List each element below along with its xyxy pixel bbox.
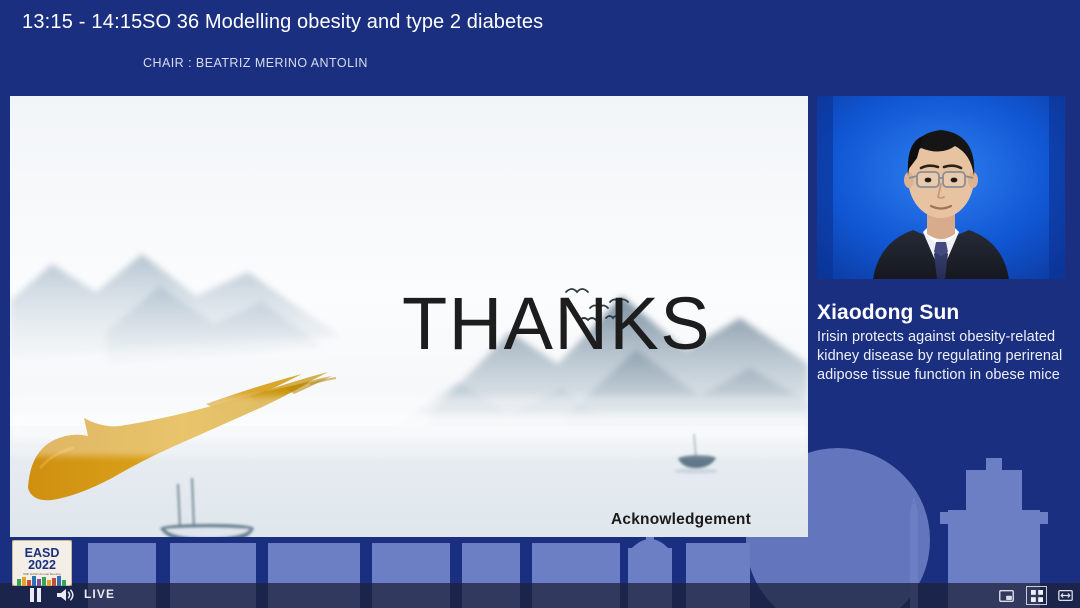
- session-chair: CHAIR : BEATRIZ MERINO ANTOLIN: [143, 56, 368, 70]
- slide-acknowledgement-label: Acknowledgement: [611, 511, 751, 529]
- session-header: 13:15 - 14:15 SO 36 Modelling obesity an…: [0, 0, 1080, 88]
- easd-logo-mark: EASD 2022 58th EASD Annual Meeting: [12, 540, 72, 586]
- easd-logo: EASD 2022 58th EASD Annual Meeting: [12, 540, 72, 586]
- expand-width-icon[interactable]: [1055, 586, 1076, 605]
- page-title: SO 36 Modelling obesity and type 2 diabe…: [142, 11, 543, 34]
- video-player-controls: LIVE: [0, 583, 1080, 608]
- layout-grid-icon[interactable]: [1026, 586, 1047, 605]
- avatar[interactable]: [817, 96, 1065, 279]
- picture-in-picture-icon[interactable]: [996, 586, 1017, 605]
- live-badge: LIVE: [84, 587, 115, 601]
- slide-heading: THANKS: [402, 287, 711, 361]
- pause-icon[interactable]: [30, 588, 43, 602]
- speaker-panel: Xiaodong Sun Irisin protects against obe…: [817, 96, 1065, 386]
- session-time: 13:15 - 14:15: [22, 11, 142, 34]
- speaker-portrait-image: [817, 96, 1065, 279]
- volume-icon[interactable]: [55, 587, 75, 603]
- presentation-slide[interactable]: THANKS Acknowledgement: [10, 96, 808, 537]
- speaker-name: Xiaodong Sun: [817, 301, 1065, 325]
- easd-logo-line2: 2022: [28, 558, 56, 572]
- speaker-talk-title: Irisin protects against obesity-related …: [817, 328, 1065, 385]
- easd-logo-line3: 58th EASD Annual Meeting: [23, 572, 61, 576]
